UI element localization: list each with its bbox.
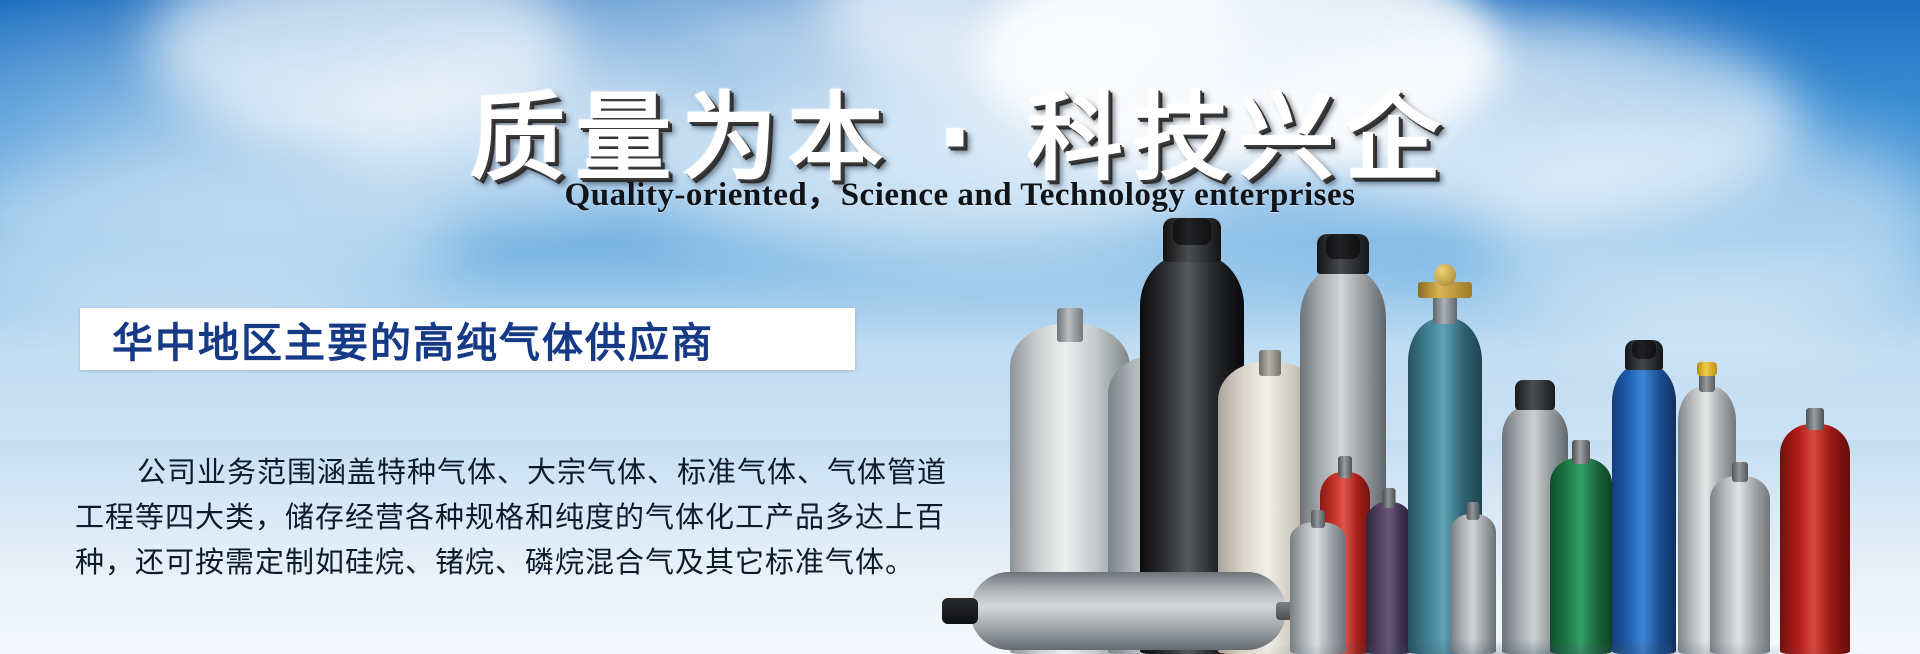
description-paragraph: 公司业务范围涵盖特种气体、大宗气体、标准气体、气体管道 工程等四大类，储存经营各… [75,450,875,585]
paragraph-line: 种，还可按需定制如硅烷、锗烷、磷烷混合气及其它标准气体。 [75,540,875,585]
cylinder-valve-guard [1317,234,1369,274]
promotional-banner: 质量为本 · 科技兴企 Quality-oriented，Science and… [0,0,1920,654]
paragraph-line: 工程等四大类，储存经营各种规格和纯度的气体化工产品多达上百 [75,495,875,540]
cylinder-valve-guard [1163,218,1221,262]
paragraph-line: 公司业务范围涵盖特种气体、大宗气体、标准气体、气体管道 [75,450,875,495]
cylinder-valve-guard [1625,340,1663,370]
gas-cylinder-group-image [1150,0,1920,654]
yellow-valve-cap-icon [1697,362,1717,376]
tagline-highlight-box: 华中地区主要的高纯气体供应商 [80,308,855,370]
ground-shadow [1170,616,1910,654]
blue-cylinder [1612,364,1676,654]
valve-handwheel-icon [1434,264,1456,286]
cylinder-cap [1515,380,1555,410]
tagline-text: 华中地区主要的高纯气体供应商 [80,309,714,369]
